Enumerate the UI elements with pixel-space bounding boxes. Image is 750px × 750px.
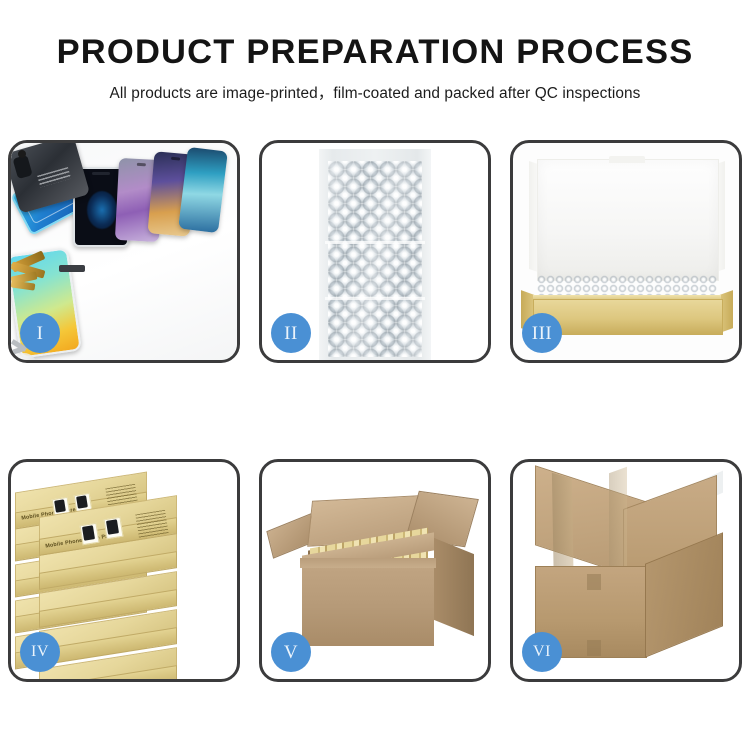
header: PRODUCT PREPARATION PROCESS All products…	[0, 34, 750, 103]
page-subtitle: All products are image-printed，film-coat…	[0, 81, 750, 103]
retail-box-stacked	[39, 620, 175, 642]
page-title: PRODUCT PREPARATION PROCESS	[0, 34, 750, 70]
box-label-screen-3	[82, 525, 95, 541]
carton-flap-front	[300, 558, 436, 568]
step-panel-4: Mobile Phone Spare Parts	[8, 459, 240, 682]
bubble-wrap-pouch	[319, 149, 431, 360]
wrap-seam-2	[325, 297, 425, 300]
box-lid-tab	[609, 156, 645, 163]
step-panel-2: II	[259, 140, 491, 363]
back-cover-text	[37, 167, 71, 187]
step-panel-6: VI	[510, 459, 742, 682]
carton-seam-2	[587, 640, 601, 656]
box-label-screen-4	[106, 519, 119, 535]
carton-seam-1	[587, 574, 601, 590]
carton-right-face	[434, 538, 474, 636]
step-panel-5: V	[259, 459, 491, 682]
camera-lens	[13, 155, 33, 179]
connector-bar-part	[59, 265, 85, 272]
retail-box-stacked	[39, 658, 175, 679]
step-badge-3: III	[522, 313, 562, 353]
retail-box-stacked	[39, 582, 175, 604]
box-lid-panel	[537, 159, 719, 281]
wrap-seam-1	[325, 241, 425, 244]
step-badge-4: IV	[20, 632, 60, 672]
steps-grid: I II	[8, 140, 742, 682]
notch	[171, 157, 180, 161]
plastic-sheen	[328, 161, 422, 357]
box-label-speclines-2	[135, 510, 168, 538]
step-badge-6: VI	[522, 632, 562, 672]
step-panel-3: III	[510, 140, 742, 363]
carton-front-face	[302, 558, 434, 646]
step-badge-2: II	[271, 313, 311, 353]
notch	[137, 163, 146, 166]
step-panel-1: I	[8, 140, 240, 363]
product-preparation-infographic: PRODUCT PREPARATION PROCESS All products…	[0, 0, 750, 750]
step-badge-1: I	[20, 313, 60, 353]
step-badge-5: V	[271, 632, 311, 672]
